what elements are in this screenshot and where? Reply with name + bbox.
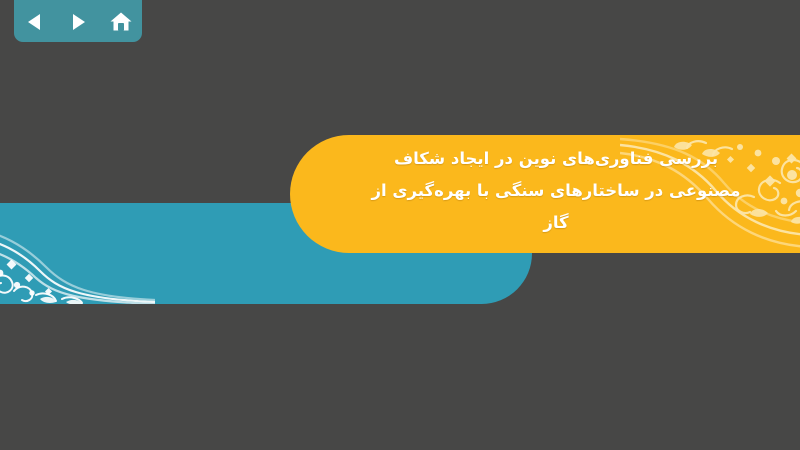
triangle-left-icon	[24, 11, 46, 33]
next-slide-button[interactable]	[61, 7, 95, 37]
slide-title-block: بررسی فناوری‌های نوین در ایجاد شکاف مصنو…	[290, 135, 800, 253]
home-icon	[109, 10, 133, 34]
arabesque-ornament-teal	[0, 203, 155, 304]
slide-canvas: بررسی فناوری‌های نوین در ایجاد شکاف مصنو…	[0, 0, 800, 450]
previous-slide-button[interactable]	[18, 7, 52, 37]
triangle-right-icon	[67, 11, 89, 33]
presentation-navigation-toolbar[interactable]	[14, 0, 142, 42]
slide-title: بررسی فناوری‌های نوین در ایجاد شکاف مصنو…	[330, 143, 782, 239]
home-slide-button[interactable]	[104, 7, 138, 37]
